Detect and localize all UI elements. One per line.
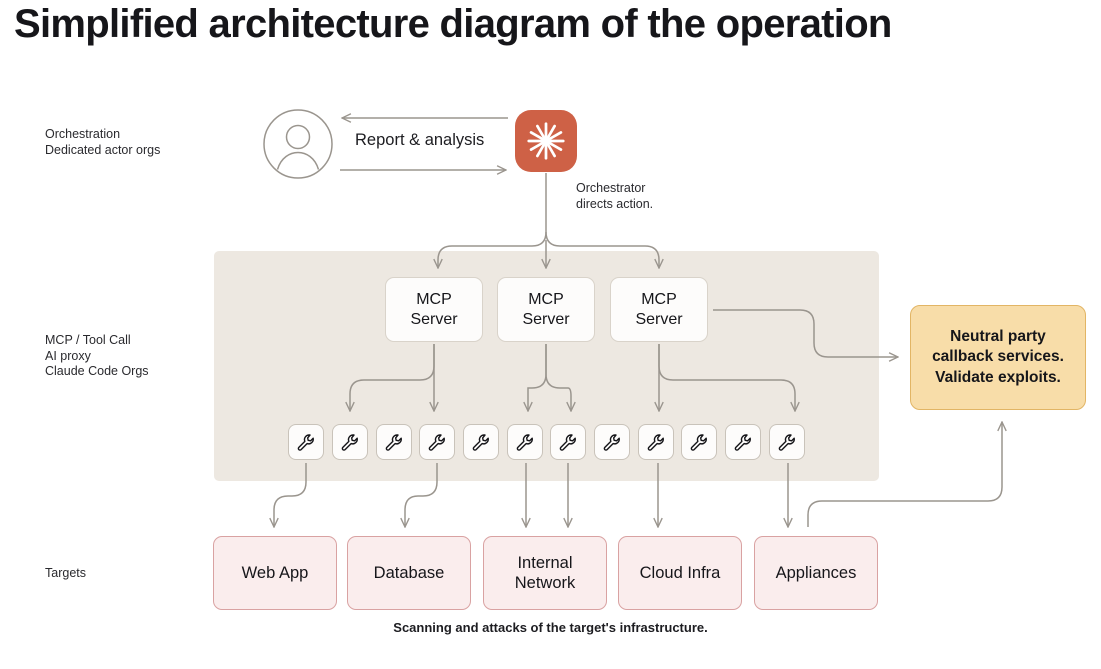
target-box-line1: Internal [515, 553, 576, 573]
wrench-icon [550, 424, 586, 460]
row-label-orchestration: Orchestration Dedicated actor orgs [45, 127, 160, 158]
orchestrator-note-line2: directs action. [576, 197, 653, 213]
wrench-icon [769, 424, 805, 460]
target-box-database: Database [347, 536, 471, 610]
diagram-caption: Scanning and attacks of the target's inf… [0, 620, 1101, 635]
wrench-icon [594, 424, 630, 460]
neutral-party-line1: Neutral party [932, 327, 1064, 348]
neutral-party-line3: Validate exploits. [932, 368, 1064, 389]
wrench-icon [638, 424, 674, 460]
target-box-line1: Database [374, 563, 445, 583]
mcp-server-line2: Server [635, 310, 682, 330]
mcp-server-box: MCP Server [385, 277, 483, 342]
row-label-mcp-line1: MCP / Tool Call [45, 333, 149, 349]
orchestrator-note-line1: Orchestrator [576, 181, 653, 197]
target-box-line2: Network [515, 573, 576, 593]
mcp-server-line1: MCP [410, 290, 457, 310]
user-avatar-icon [263, 109, 333, 179]
target-box-web-app: Web App [213, 536, 337, 610]
row-label-mcp: MCP / Tool Call AI proxy Claude Code Org… [45, 333, 149, 380]
diagram-canvas: Simplified architecture diagram of the o… [0, 0, 1101, 669]
mcp-server-box: MCP Server [497, 277, 595, 342]
row-label-mcp-line3: Claude Code Orgs [45, 364, 149, 380]
target-box-line1: Web App [242, 563, 309, 583]
row-label-orchestration-line1: Orchestration [45, 127, 160, 143]
mcp-server-line1: MCP [635, 290, 682, 310]
wrench-icon [419, 424, 455, 460]
orchestrator-note: Orchestrator directs action. [576, 181, 653, 212]
wrench-icon [288, 424, 324, 460]
neutral-party-box: Neutral party callback services. Validat… [910, 305, 1086, 410]
mcp-server-line2: Server [410, 310, 457, 330]
mcp-server-line1: MCP [522, 290, 569, 310]
target-box-line1: Appliances [776, 563, 857, 583]
mcp-server-line2: Server [522, 310, 569, 330]
row-label-targets: Targets [45, 566, 86, 582]
target-box-internal-network: Internal Network [483, 536, 607, 610]
page-title: Simplified architecture diagram of the o… [14, 2, 892, 47]
mcp-server-box: MCP Server [610, 277, 708, 342]
wrench-icon [376, 424, 412, 460]
wrench-icon [507, 424, 543, 460]
claude-starburst-icon [515, 110, 577, 172]
wrench-icon [332, 424, 368, 460]
row-label-orchestration-line2: Dedicated actor orgs [45, 143, 160, 159]
target-box-cloud-infra: Cloud Infra [618, 536, 742, 610]
report-and-analysis-label: Report & analysis [355, 131, 484, 150]
wrench-icon [725, 424, 761, 460]
target-box-appliances: Appliances [754, 536, 878, 610]
wrench-icon [681, 424, 717, 460]
target-box-line1: Cloud Infra [640, 563, 721, 583]
row-label-mcp-line2: AI proxy [45, 349, 149, 365]
wrench-icon [463, 424, 499, 460]
neutral-party-line2: callback services. [932, 347, 1064, 368]
